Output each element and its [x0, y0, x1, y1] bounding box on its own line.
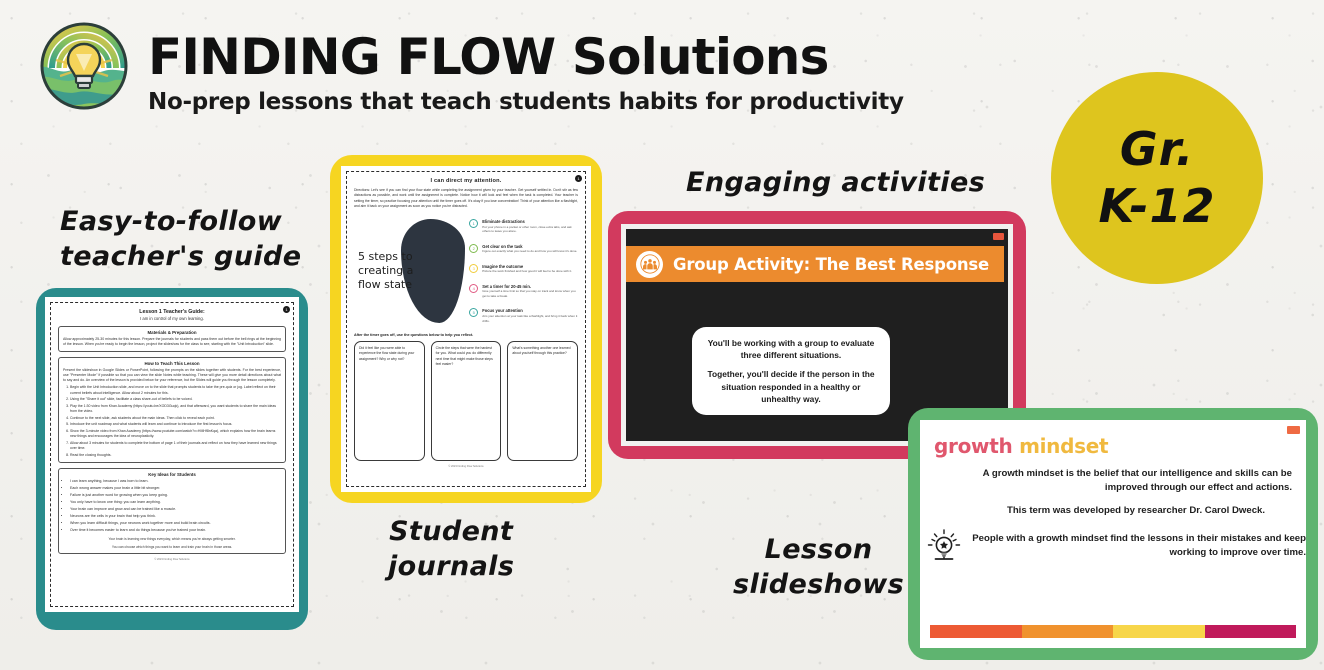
materials-heading: Materials & Preparation [63, 330, 281, 335]
color-bar-magenta [1205, 625, 1297, 638]
journal-step-desc: Aim your attention at your task like a f… [482, 314, 578, 323]
key-ideas-list: I can learn anything, because I was born… [70, 479, 281, 534]
journal-step: 1Eliminate distractionsPut your phone in… [469, 219, 578, 234]
growth-mindset-title-part1: growth [934, 434, 1012, 458]
slide-callout-p2: Together, you'll decide if the person in… [704, 368, 878, 405]
key-ideas-section: Key Ideas for Students I can learn anyth… [58, 468, 286, 554]
label-engaging-activities: Engaging activities [686, 166, 985, 201]
journal-step-desc: Figure out exactly what you need to do a… [482, 249, 577, 254]
growth-mindset-title-part2: mindset [1012, 434, 1108, 458]
label-student-journals: Student journals [388, 515, 514, 584]
lightbulb-star-icon [924, 526, 964, 566]
materials-section: Materials & Preparation Allow approximat… [58, 326, 286, 352]
journal-step-title: Eliminate distractions [482, 219, 578, 224]
key-idea-item: I can learn anything, because I was born… [70, 479, 281, 485]
slide-banner-title: Group Activity: The Best Response [673, 255, 989, 274]
journal-step: 5Focus your attentionAim your attention … [469, 308, 578, 323]
how-to-teach-step: Using the "Share it out" slide, facilita… [70, 397, 281, 402]
journal-step: 2Get clear on the taskFigure out exactly… [469, 244, 578, 254]
teacher-guide-page: 1 Lesson 1 Teacher's Guide: I am in cont… [45, 297, 299, 612]
journal-step-number: 3 [469, 264, 478, 273]
journal-step-number: 2 [469, 244, 478, 253]
page-title: FINDING FLOW Solutions [148, 32, 904, 83]
growth-mindset-p2: This term was developed by researcher Dr… [980, 504, 1292, 518]
key-idea-item: When you learn difficult things, your ne… [70, 521, 281, 527]
grade-badge-line2: K-12 [1098, 178, 1215, 236]
page-subtitle: No-prep lessons that teach students habi… [148, 89, 904, 115]
growth-mindset-title: growth mindset [920, 420, 1306, 458]
journal-steps-list: 1Eliminate distractionsPut your phone in… [459, 215, 578, 327]
slide-corner-tag [993, 233, 1004, 240]
slide-growth-mindset: growth mindset A growth mindset is the b… [920, 420, 1306, 648]
key-idea-item: Neurons are the cells in your brain that… [70, 514, 281, 520]
label-teacher-guide-line1: Easy-to-follow [60, 205, 301, 240]
key-idea-item: Failure is just another word for growing… [70, 493, 281, 499]
how-to-teach-step: Continue to the next slide, ask students… [70, 416, 281, 421]
key-ideas-footer1: Your brain is learning new things everyd… [63, 537, 281, 542]
slide-callout-p1: You'll be working with a group to evalua… [704, 337, 878, 361]
materials-text: Allow approximately 25-30 minutes for th… [63, 337, 281, 348]
label-student-journals-line2: journals [388, 550, 514, 585]
grade-badge-line1: Gr. [1120, 121, 1194, 179]
slide-corner-tag [1287, 426, 1300, 434]
journal-reflection-box[interactable]: Circle the steps that were the hardest f… [431, 341, 502, 461]
key-idea-item: Over time it becomes easier to learn and… [70, 528, 281, 534]
page-number-badge: 1 [283, 306, 290, 313]
label-teacher-guide: Easy-to-follow teacher's guide [60, 205, 301, 274]
growth-mindset-p3: People with a growth mindset find the le… [970, 532, 1306, 560]
journal-steps-title-block: 5 steps to creating a flow state [354, 215, 459, 327]
journal-header: I can direct my attention. [354, 178, 578, 184]
journal-step-title: Get clear on the task [482, 244, 577, 249]
growth-mindset-p1: A growth mindset is the belief that our … [980, 467, 1292, 495]
journal-step-number: 4 [469, 284, 478, 293]
slide-color-bar [930, 625, 1296, 638]
teacher-guide-card[interactable]: 1 Lesson 1 Teacher's Guide: I am in cont… [36, 288, 308, 630]
teacher-guide-title: Lesson 1 Teacher's Guide: [58, 309, 286, 315]
label-teacher-guide-line2: teacher's guide [60, 240, 301, 275]
title-bold: FINDING FLOW [148, 28, 555, 86]
journal-step-desc: Picture the work finished and how good i… [482, 269, 572, 274]
color-bar-red [930, 625, 1022, 638]
how-to-teach-step: Show the 3-minute video from Khan Academ… [70, 429, 281, 440]
group-people-icon [636, 251, 663, 278]
key-idea-item: Your brain can improve and grow and can … [70, 507, 281, 513]
journal-reflection-box[interactable]: Did it feel like you were able to experi… [354, 341, 425, 461]
brand-header: FINDING FLOW Solutions No-prep lessons t… [34, 16, 904, 116]
journal-reflection-box[interactable]: What's something another one learned abo… [507, 341, 578, 461]
how-to-teach-step: Read the closing thoughts. [70, 453, 281, 458]
journal-step-desc: Put your phone in a pocket or other room… [482, 225, 578, 234]
label-student-journals-line1: Student [388, 515, 514, 550]
slide-banner: Group Activity: The Best Response [626, 246, 1004, 282]
teacher-guide-subtitle: I am in control of my own learning. [58, 316, 286, 321]
color-bar-yellow [1113, 625, 1205, 638]
journal-steps-title-line1: 5 steps to [358, 250, 413, 264]
color-bar-orange [1022, 625, 1114, 638]
journal-steps-title-line2: creating a [358, 264, 413, 278]
how-to-teach-steps: Begin with the Unit Introduction slide, … [70, 385, 281, 458]
how-to-teach-step: Begin with the Unit Introduction slide, … [70, 385, 281, 396]
label-lesson-slideshows: Lesson slideshows [733, 533, 904, 602]
slideshow-growth-mindset-card[interactable]: growth mindset A growth mindset is the b… [908, 408, 1318, 660]
title-rest: Solutions [555, 28, 828, 86]
key-ideas-footer2: You can choose which things you want to … [63, 545, 281, 550]
journal-directions: Directions: Let's see if you can find yo… [354, 188, 578, 209]
lightbulb-rainbow-logo-icon [34, 16, 134, 116]
key-idea-item: You only have to know one thing: you can… [70, 500, 281, 506]
teacher-guide-credit: © 2023 Finding Flow Solutions [58, 558, 286, 561]
journal-steps-title-line3: flow state [358, 278, 413, 292]
grade-badge: Gr. K-12 [1051, 72, 1263, 284]
label-lesson-slideshows-line1: Lesson [733, 533, 904, 568]
journal-step-number: 5 [469, 308, 478, 317]
journal-step-number: 1 [469, 219, 478, 228]
slide-callout: You'll be working with a group to evalua… [692, 327, 890, 415]
label-lesson-slideshows-line2: slideshows [733, 568, 904, 603]
journal-credit: © 2023 Finding Flow Solutions [354, 465, 578, 468]
journal-step-desc: Give yourself a time limit so that you s… [482, 289, 578, 298]
how-to-teach-step: Play the 1:30 video from Khan Academy (h… [70, 404, 281, 415]
how-to-teach-step: Introduce the unit roadmap and what stud… [70, 422, 281, 427]
journal-page-number-badge: 1 [575, 175, 582, 182]
journal-step: 4Set a timer for 20-45 min.Give yourself… [469, 284, 578, 299]
student-journal-card[interactable]: 1 I can direct my attention. Directions:… [330, 155, 602, 503]
journal-after-prompt: After the timer goes off, use the questi… [354, 333, 578, 337]
student-journal-page: 1 I can direct my attention. Directions:… [341, 166, 591, 492]
how-to-teach-section: How to Teach This Lesson Present the sli… [58, 357, 286, 464]
journal-reflection-boxes: Did it feel like you were able to experi… [354, 341, 578, 461]
how-to-teach-step: Allow about 3 minutes for students to co… [70, 441, 281, 452]
key-idea-item: Each wrong answer makes your brain a lit… [70, 486, 281, 492]
how-to-teach-heading: How to Teach This Lesson [63, 361, 281, 366]
journal-step: 3Imagine the outcomePicture the work fin… [469, 264, 578, 274]
journal-step-title: Imagine the outcome [482, 264, 572, 269]
journal-step-title: Set a timer for 20-45 min. [482, 284, 578, 289]
key-ideas-heading: Key Ideas for Students [63, 472, 281, 477]
how-to-teach-text: Present the slideshow in Google Slides o… [63, 368, 281, 384]
journal-step-title: Focus your attention [482, 308, 578, 313]
